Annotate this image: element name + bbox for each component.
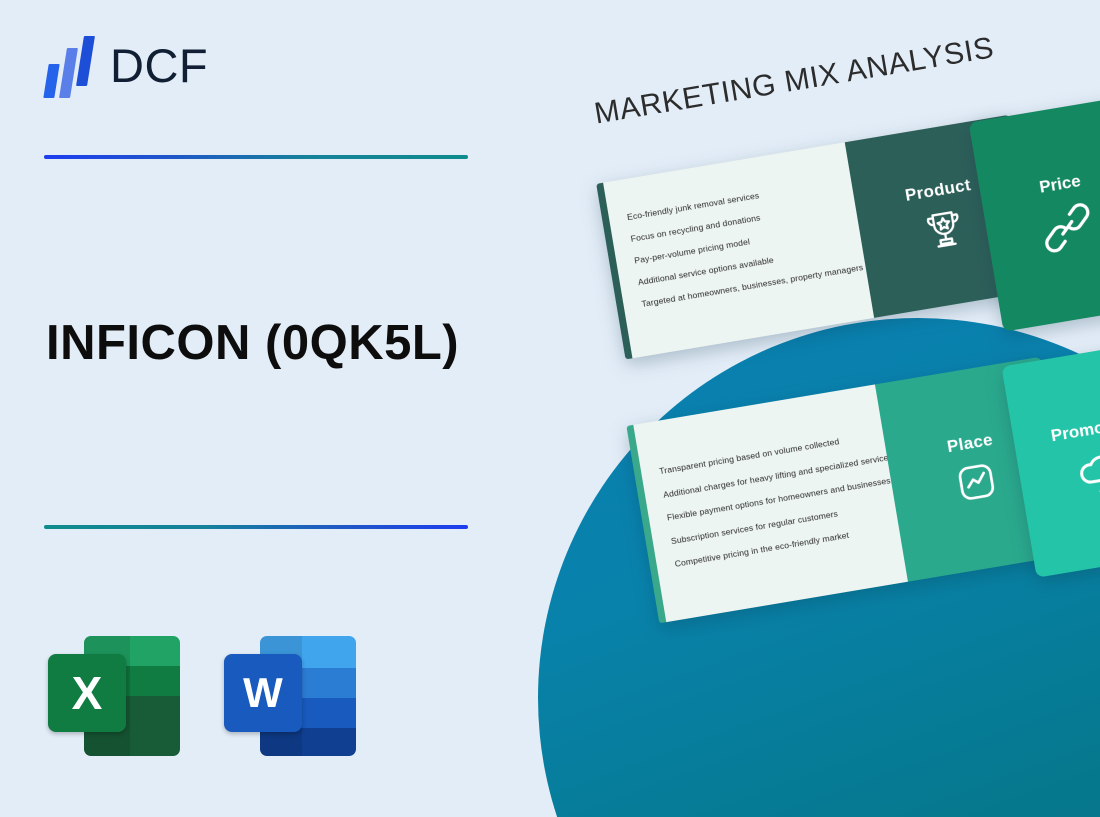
chain-link-icon — [1037, 198, 1097, 258]
brand-logo[interactable]: DCF — [44, 36, 208, 98]
slide-canvas: DCF INFICON (0QK5L) X W MARKETING MIX AN… — [0, 0, 1100, 817]
place-bullet-list: Transparent pricing based on volume coll… — [659, 432, 886, 569]
promotion-label-text: Promotion — [1049, 413, 1100, 447]
excel-icon[interactable]: X — [48, 630, 180, 756]
product-bullets-panel: Eco-friendly junk removal services Focus… — [596, 142, 874, 359]
product-label-text: Product — [904, 175, 973, 206]
chart-square-icon — [950, 456, 1003, 509]
list-item: Eco-friendly junk removal services — [626, 178, 837, 222]
brand-name: DCF — [110, 42, 208, 93]
trophy-icon — [918, 203, 971, 256]
product-bullet-list: Eco-friendly junk removal services Focus… — [626, 178, 852, 309]
dcf-bars-logo-icon — [44, 36, 96, 98]
marketing-mix-artwork: MARKETING MIX ANALYSIS Eco-friendly junk… — [500, 0, 1100, 817]
place-bullets-panel: Transparent pricing based on volume coll… — [626, 384, 908, 623]
price-label-text: Price — [1038, 171, 1082, 198]
word-letter: W — [224, 654, 302, 732]
place-label-text: Place — [946, 430, 995, 457]
excel-letter: X — [48, 654, 126, 732]
word-icon[interactable]: W — [224, 630, 356, 756]
file-format-icons: X W — [48, 630, 356, 756]
divider-top — [44, 155, 468, 159]
page-title: INFICON (0QK5L) — [46, 315, 459, 371]
cloud-bolt-icon — [1070, 443, 1100, 503]
divider-bottom — [44, 525, 468, 529]
